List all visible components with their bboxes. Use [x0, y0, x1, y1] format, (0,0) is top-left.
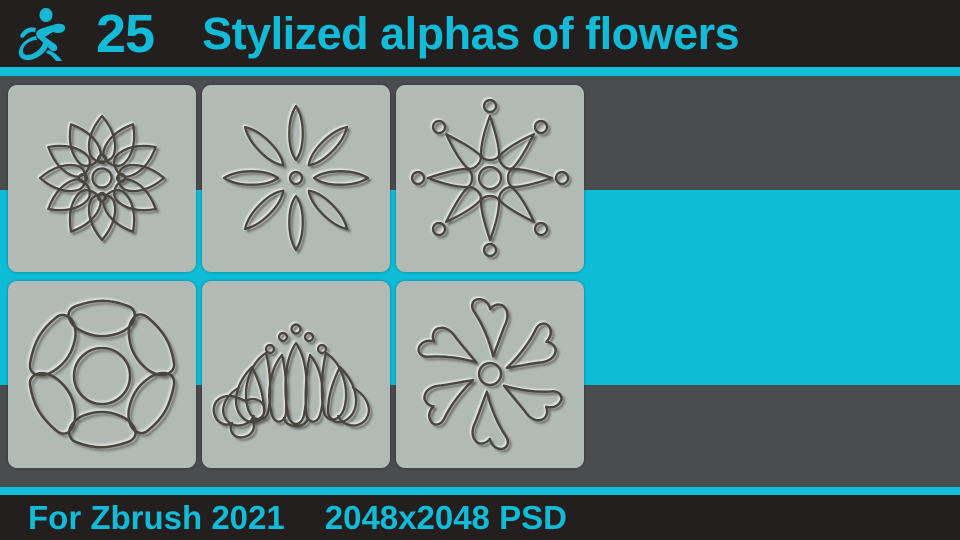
zbrush-runner-icon — [12, 6, 74, 62]
footer-accent-rule — [0, 487, 960, 495]
alpha-tile-5[interactable] — [202, 281, 390, 468]
alpha-tile-3[interactable] — [396, 85, 584, 272]
alpha-tile-4[interactable] — [8, 281, 196, 468]
footer-bar: For Zbrush 2021 2048x2048 PSD — [0, 495, 960, 540]
header-bar: 25 Stylized alphas of flowers — [0, 0, 960, 67]
promo-banner: 25 Stylized alphas of flowers For Zbrush… — [0, 0, 960, 540]
page-title: Stylized alphas of flowers — [202, 11, 739, 56]
alpha-tile-6[interactable] — [396, 281, 584, 468]
alpha-preview-grid — [8, 85, 588, 479]
software-label: For Zbrush 2021 — [28, 501, 285, 534]
alpha-tile-2[interactable] — [202, 85, 390, 272]
header-accent-rule — [0, 67, 960, 76]
twelve-petal-daisy-alpha — [8, 85, 196, 272]
resolution-label: 2048x2048 PSD — [325, 501, 567, 534]
six-heart-petal-flower-alpha — [396, 281, 584, 468]
six-thick-petal-ring-alpha — [8, 281, 196, 468]
preview-stage — [0, 76, 960, 487]
eight-point-star-burst-alpha — [396, 85, 584, 272]
alpha-tile-1[interactable] — [8, 85, 196, 272]
lotus-blossom-alpha — [202, 281, 390, 468]
pack-count: 25 — [96, 7, 154, 61]
eight-petal-lens-flower-alpha — [202, 85, 390, 272]
